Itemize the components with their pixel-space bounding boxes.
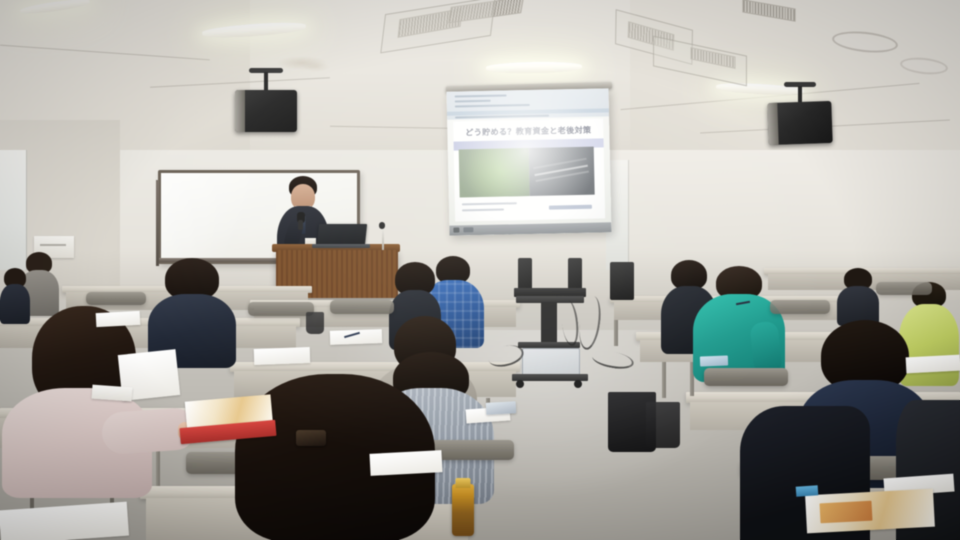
chair-back [770, 300, 830, 314]
brochure-graphic [820, 501, 873, 524]
drink-bottle [452, 484, 474, 536]
slide-photo-left [459, 148, 530, 197]
chair-back [330, 300, 394, 314]
floor-equipment-rack [610, 262, 634, 300]
seminar-room-photo: どう貯める？教育資金と老後対策 [0, 0, 960, 540]
handout-paper [254, 347, 311, 365]
handout-paper [92, 385, 133, 402]
desk-leg [614, 320, 618, 346]
speaker-side-panel [235, 90, 245, 132]
speaker-box [767, 101, 832, 145]
small-device [486, 401, 517, 415]
slide-photo-right [529, 147, 595, 196]
speaker-mount-rod [264, 72, 268, 90]
cart-center-post [541, 302, 557, 344]
chair-back [86, 292, 146, 305]
whiteboard-left-rail [156, 180, 159, 266]
handout-paper [906, 355, 960, 374]
taskbar-start-icon [453, 227, 459, 232]
cart-wheel [516, 380, 524, 388]
chair-back [248, 302, 314, 316]
ceiling-speaker-left [220, 68, 312, 140]
microphone-body [298, 220, 303, 230]
speaker-mount-rod [798, 86, 802, 102]
desk-leg [662, 362, 666, 398]
projection-screen: どう貯める？教育資金と老後対策 [447, 88, 612, 235]
ceiling-speaker-right [752, 82, 848, 158]
chair-back [704, 368, 788, 386]
floor-bag [306, 312, 324, 334]
hair-clip [296, 430, 326, 446]
taskbar-item [463, 227, 473, 232]
bottle-cap [456, 478, 471, 488]
speaker-side-panel [767, 103, 778, 145]
attendee-front-left-pink [6, 306, 184, 496]
chair-back [876, 282, 932, 295]
small-device [700, 356, 728, 367]
wall-notice-line [40, 244, 66, 246]
floor-bag [646, 402, 680, 448]
handout-paper [369, 450, 442, 476]
speaker-box [235, 90, 297, 132]
handout-paper [330, 329, 382, 345]
handout-paper [96, 311, 141, 327]
microphone-head [379, 222, 385, 229]
cart-storage-box [522, 348, 580, 376]
microphone-stand [382, 228, 384, 250]
laptop-base [312, 244, 370, 248]
attendee-back-right-dark [836, 268, 880, 324]
laptop-screen [317, 224, 367, 246]
brochure-tab [796, 485, 819, 497]
cart-wheel [574, 380, 582, 388]
